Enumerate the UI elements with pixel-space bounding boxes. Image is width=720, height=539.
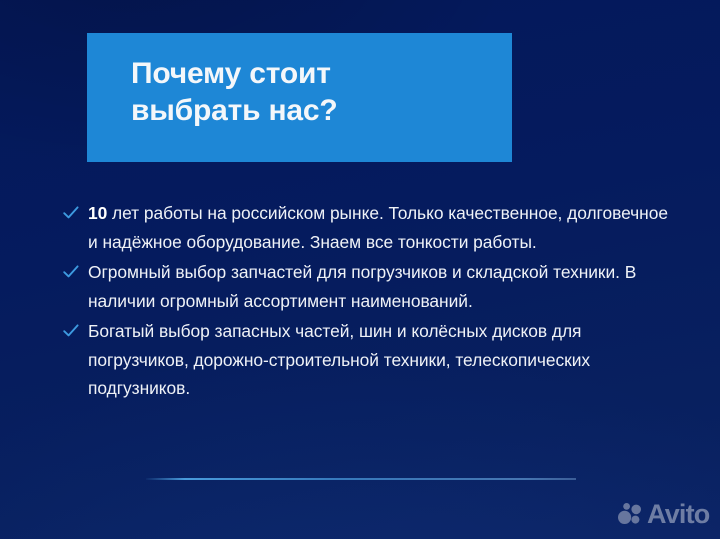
check-icon	[62, 322, 80, 344]
list-item: 10 лет работы на российском рынке. Тольк…	[62, 199, 670, 256]
list-item: Огромный выбор запчастей для погрузчиков…	[62, 258, 670, 315]
list-item-text: Огромный выбор запчастей для погрузчиков…	[88, 258, 670, 315]
list-item-body: Огромный выбор запчастей для погрузчиков…	[88, 262, 636, 311]
list-item: Богатый выбор запасных частей, шин и кол…	[62, 317, 670, 403]
check-icon	[62, 204, 80, 226]
benefits-list: 10 лет работы на российском рынке. Тольк…	[62, 199, 670, 405]
avito-wordmark: Avito	[647, 501, 710, 528]
avito-watermark: Avito	[616, 500, 710, 528]
slide-canvas: Почему стоит выбрать нас? 10 лет работы …	[0, 0, 720, 539]
title-banner: Почему стоит выбрать нас?	[87, 33, 512, 162]
list-item-lead: 10	[88, 203, 107, 223]
page-title: Почему стоит выбрать нас?	[131, 55, 491, 129]
list-item-body: лет работы на российском рынке. Только к…	[88, 203, 668, 252]
list-item-body: Богатый выбор запасных частей, шин и кол…	[88, 321, 590, 398]
list-item-text: 10 лет работы на российском рынке. Тольк…	[88, 199, 670, 256]
section-divider	[146, 478, 576, 480]
list-item-text: Богатый выбор запасных частей, шин и кол…	[88, 317, 670, 403]
avito-logo-icon	[616, 500, 644, 528]
check-icon	[62, 263, 80, 285]
